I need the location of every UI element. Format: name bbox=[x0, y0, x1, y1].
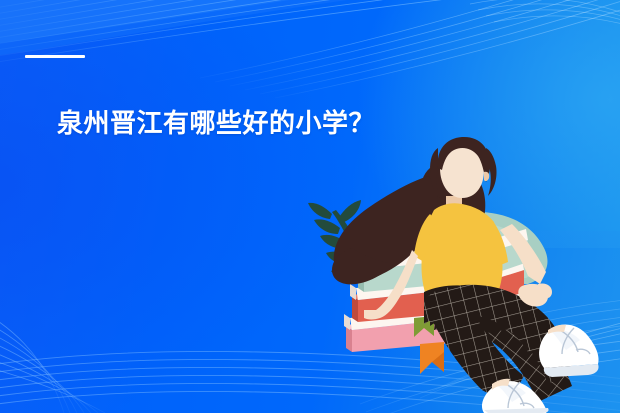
bookmark-orange bbox=[420, 342, 444, 374]
shoe-upper bbox=[539, 324, 598, 377]
illustration-woman-on-books bbox=[0, 0, 620, 413]
promo-banner: 泉州晋江有哪些好的小学？ bbox=[0, 0, 620, 413]
